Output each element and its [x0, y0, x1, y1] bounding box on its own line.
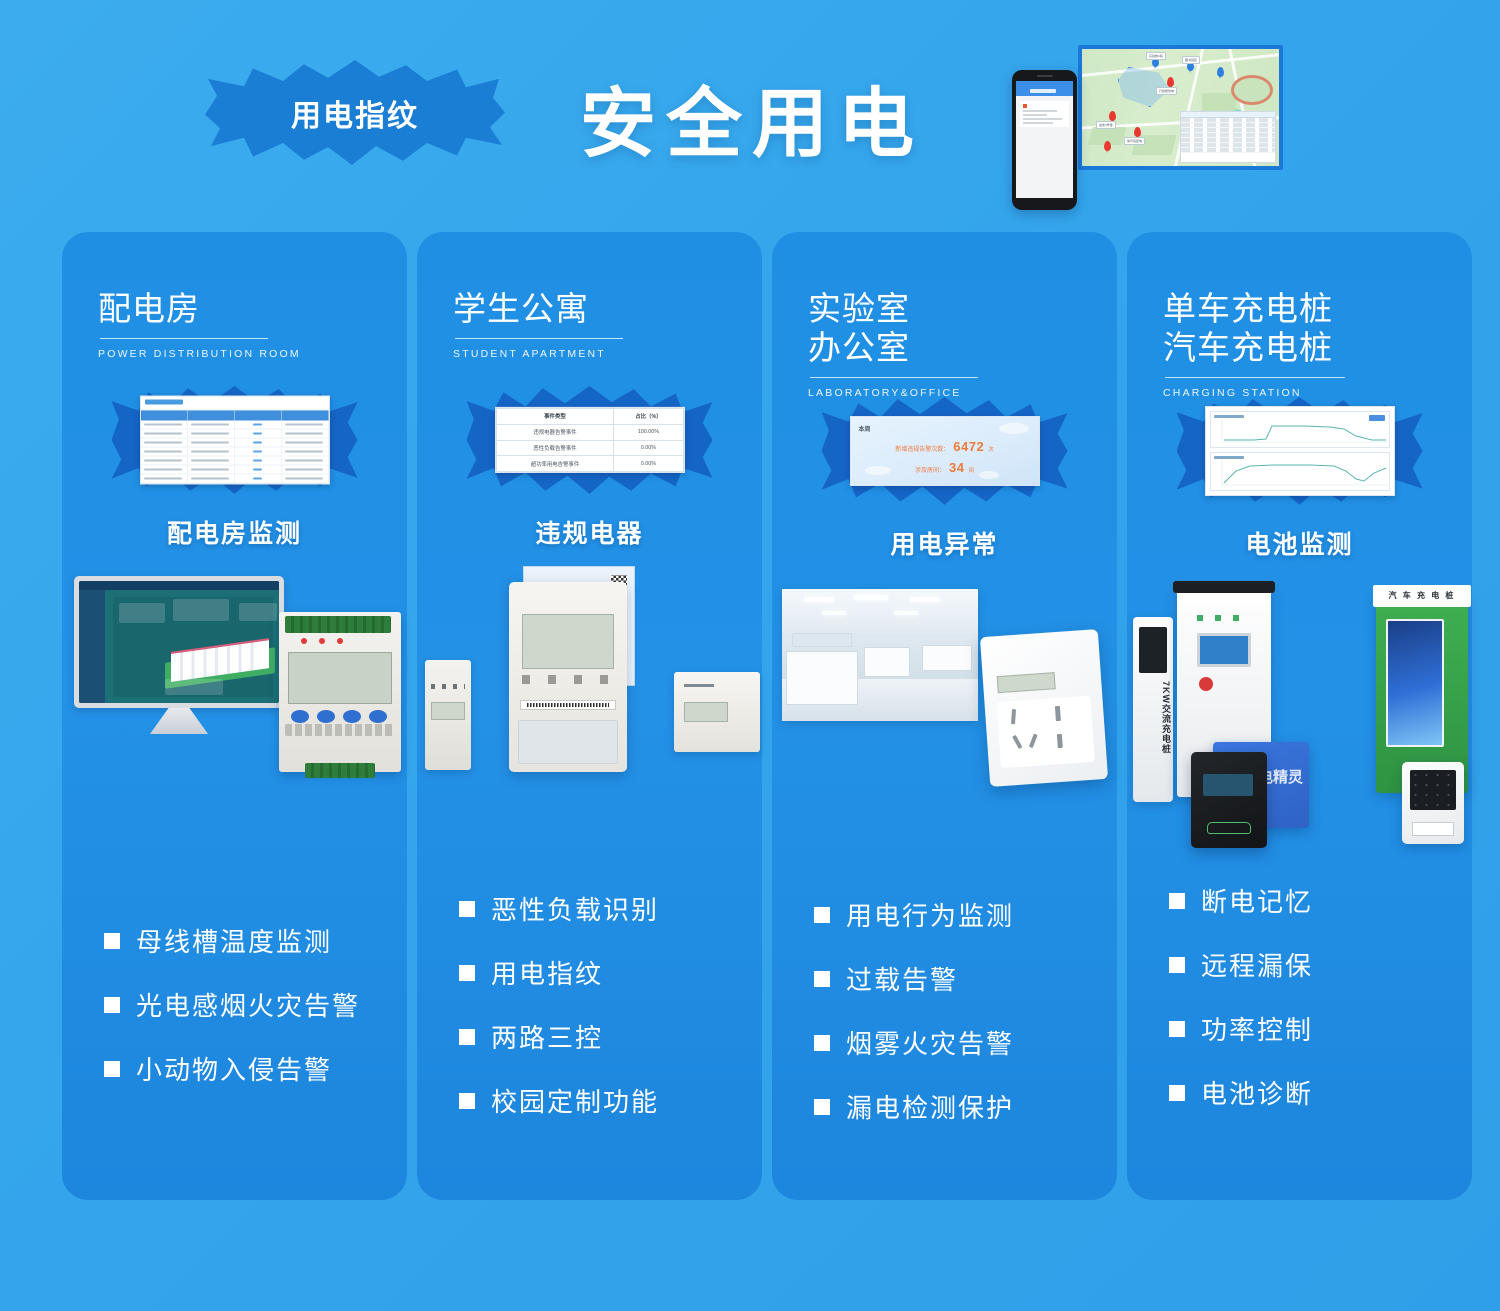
map-road: [1082, 51, 1279, 78]
list-item: 功率控制: [1169, 1010, 1472, 1047]
panel-laboratory-office[interactable]: 实验室 办公室 LABORATORY&OFFICE 本周 新增违规告警次数： 6…: [772, 232, 1117, 1200]
badge-used-power-fingerprint: 用电指纹: [205, 60, 505, 165]
list-item-label: 功率控制: [1201, 1010, 1313, 1047]
list-item: 恶性负载识别: [459, 890, 762, 927]
status-led-icon: [319, 638, 325, 644]
panel-charging-station[interactable]: 单车充电桩 汽车充电桩 CHARGING STATION: [1127, 232, 1472, 1200]
feature-list: 母线槽温度监测 光电感烟火灾告警 小动物入侵告警: [62, 922, 407, 1114]
list-item-label: 校园定制功能: [491, 1082, 659, 1119]
map-canvas: 实验楼A栋 图书馆区 行政楼供电 宿舍3号楼 体育馆配电: [1082, 49, 1279, 166]
map-pin[interactable]: [1104, 141, 1111, 151]
stat-unit: 次: [988, 445, 994, 453]
bullet-square-icon: [1169, 1085, 1185, 1101]
charging-station-equipment-photo: 7KW交流充电桩 汽 车 充 电 桩 电精灵: [1127, 575, 1472, 850]
panel-subtitle: STUDENT APARTMENT: [453, 348, 762, 360]
terminal-display: [1203, 774, 1253, 796]
phone-message-card: [1020, 101, 1069, 127]
map-pin-label: 图书馆区: [1182, 56, 1200, 64]
mockup-table-row: [141, 474, 329, 483]
kiosk-header-label: 汽 车 充 电 桩: [1373, 585, 1471, 607]
table-header-cell: 占比（%）: [614, 408, 683, 424]
capacity-chart: [1210, 452, 1390, 491]
charger-top-cap: [1173, 581, 1275, 593]
campus-map-dashboard: 实验楼A栋 图书馆区 行政楼供电 宿舍3号楼 体育馆配电: [1078, 45, 1283, 170]
panel-header: 配电房 POWER DISTRIBUTION ROOM: [62, 232, 407, 360]
smart-electric-meters-photo: [417, 564, 762, 839]
list-item: 用电指纹: [459, 954, 762, 991]
panel-power-distribution-room[interactable]: 配电房 POWER DISTRIBUTION ROOM 配电房监测: [62, 232, 407, 1200]
map-pin[interactable]: [1134, 127, 1141, 137]
dashboard-topbar: [79, 581, 279, 590]
list-item-label: 小动物入侵告警: [136, 1050, 332, 1087]
page-header: 用电指纹 安全用电 实验楼A栋: [0, 0, 1500, 225]
list-item: 漏电检测保护: [814, 1088, 1117, 1125]
phone-mockup: [1012, 70, 1077, 210]
mockup-table-row: [141, 456, 329, 465]
panel-title: 配电房: [98, 290, 407, 329]
feature-panels: 配电房 POWER DISTRIBUTION ROOM 配电房监测: [62, 232, 1472, 1200]
bullet-square-icon: [459, 1029, 475, 1045]
map-alarm-table: [1180, 111, 1276, 163]
charger-status-leds-icon: [1197, 615, 1251, 621]
mockup-table-row: [141, 420, 329, 429]
smart-socket-device: [980, 629, 1108, 787]
chart-line-svg: [1214, 418, 1390, 444]
list-item-label: 电池诊断: [1201, 1074, 1313, 1111]
meter-lcd-screen: [522, 614, 614, 669]
kiosk-advertising-screen: [1386, 619, 1444, 747]
socket-pin-hole: [1011, 709, 1016, 724]
car-icon: [1207, 822, 1251, 834]
socket-pin-hole: [1057, 734, 1063, 748]
list-item-label: 远程漏保: [1201, 946, 1313, 983]
bullet-square-icon: [1169, 957, 1185, 973]
card-slot: [1412, 822, 1454, 836]
bullet-square-icon: [459, 965, 475, 981]
hero-device-mockup: 实验楼A栋 图书馆区 行政楼供电 宿舍3号楼 体育馆配电: [1000, 45, 1290, 220]
keypad-access-terminal: [1402, 762, 1464, 844]
list-item: 校园定制功能: [459, 1082, 762, 1119]
list-item-label: 用电行为监测: [846, 896, 1014, 933]
bullet-square-icon: [814, 907, 830, 923]
panel-header: 实验室 办公室 LABORATORY&OFFICE: [772, 232, 1117, 399]
panel-title: 实验室 办公室: [808, 290, 1117, 368]
screw-terminals: [285, 724, 395, 736]
mockup-table-row: [141, 465, 329, 474]
mockup-table-header: [141, 410, 329, 420]
device-button[interactable]: [291, 710, 309, 723]
status-led-icon: [301, 638, 307, 644]
list-item-label: 母线槽温度监测: [136, 922, 332, 959]
mockup-caption: 违规电器: [417, 514, 762, 550]
terminal-block: [285, 616, 391, 633]
list-item: 过载告警: [814, 960, 1117, 997]
table-cell: 恶性负载告警事件: [496, 440, 614, 456]
list-item-label: 过载告警: [846, 960, 958, 997]
list-item: 两路三控: [459, 1018, 762, 1055]
bullet-square-icon: [814, 1035, 830, 1051]
list-item: 用电行为监测: [814, 896, 1117, 933]
device-button[interactable]: [343, 710, 361, 723]
monitor-stand: [150, 708, 208, 734]
stat-label: 涉及房间：: [915, 465, 945, 474]
stat-value: 34: [949, 460, 964, 475]
list-item: 烟雾火灾告警: [814, 1024, 1117, 1061]
list-item-label: 用电指纹: [491, 954, 603, 991]
meter-lcd-screen: [431, 702, 465, 720]
table-cell: 0.00%: [614, 456, 683, 472]
meter-barcode-label: [520, 700, 616, 710]
abnormal-usage-stat-card-mockup: 本周 新增违规告警次数： 6472 次 涉及房间： 34 间: [850, 416, 1040, 486]
chart-export-button[interactable]: [1369, 415, 1385, 421]
feature-list: 用电行为监测 过载告警 烟雾火灾告警 漏电检测保护: [772, 896, 1117, 1152]
panel-header: 单车充电桩 汽车充电桩 CHARGING STATION: [1127, 232, 1472, 399]
table-row: 超功率用电告警事件 0.00%: [496, 456, 683, 472]
table-cell: 0.00%: [614, 440, 683, 456]
rfid-charging-terminal: [1191, 752, 1267, 848]
list-item-label: 恶性负载识别: [491, 890, 659, 927]
battery-monitor-charts-mockup: [1205, 406, 1395, 496]
map-pin[interactable]: [1167, 77, 1174, 87]
dashboard-3d-scene: [113, 597, 273, 697]
map-pin[interactable]: [1109, 111, 1116, 121]
dashboard-sidebar: [79, 590, 105, 703]
title-divider: [810, 377, 978, 378]
table-header-row: 事件类型 占比（%）: [496, 408, 683, 424]
bullet-square-icon: [104, 997, 120, 1013]
list-item-label: 烟雾火灾告警: [846, 1024, 1014, 1061]
map-pin-label: 宿舍3号楼: [1096, 121, 1116, 129]
list-item: 小动物入侵告警: [104, 1050, 407, 1087]
panel-title: 单车充电桩 汽车充电桩: [1163, 290, 1472, 368]
phone-speaker-icon: [1037, 75, 1053, 77]
terminal-block: [305, 763, 375, 778]
din-rail-meter-right: [674, 672, 760, 752]
device-lcd-screen: [288, 652, 392, 704]
ac-charging-post: 7KW交流充电桩: [1133, 617, 1173, 802]
map-sports-track: [1231, 75, 1273, 105]
list-item: 电池诊断: [1169, 1074, 1472, 1111]
mockup-zone: [1127, 391, 1472, 511]
badge-label: 用电指纹: [205, 60, 505, 165]
table-cell: 违规电器告警事件: [496, 424, 614, 440]
emergency-stop-button[interactable]: [1199, 677, 1213, 691]
stat-row: 新增违规告警次数： 6472 次: [859, 439, 1031, 454]
stat-card: 本周 新增违规告警次数： 6472 次 涉及房间： 34 间: [851, 417, 1039, 485]
mockup-toolbar: [141, 399, 329, 410]
din-rail-monitoring-device: [279, 612, 401, 772]
mockup-table-row: [141, 438, 329, 447]
chart-line-svg: [1214, 459, 1390, 487]
bullet-square-icon: [814, 1099, 830, 1115]
table-row: 违规电器告警事件 100.00%: [496, 424, 683, 440]
meter-lcd-screen: [684, 702, 728, 722]
bullet-square-icon: [459, 901, 475, 917]
table-row: 恶性负载告警事件 0.00%: [496, 440, 683, 456]
socket-lcd-screen: [997, 672, 1056, 693]
bullet-square-icon: [459, 1093, 475, 1109]
map-pin-label: 行政楼供电: [1156, 87, 1177, 95]
desktop-monitor: [74, 576, 284, 708]
list-item: 远程漏保: [1169, 946, 1472, 983]
stat-value: 6472: [953, 439, 984, 454]
socket-face: [996, 696, 1094, 768]
keypad-icon[interactable]: [1410, 770, 1456, 810]
charger-screen: [1139, 627, 1167, 673]
monitor-screen: [79, 581, 279, 703]
table-header-cell: 事件类型: [496, 408, 614, 424]
laboratory-smart-socket-photo: [772, 575, 1117, 850]
charging-post-label: 7KW交流充电桩: [1133, 681, 1173, 754]
bullet-square-icon: [104, 1061, 120, 1077]
list-item: 光电感烟火灾告警: [104, 986, 407, 1023]
title-divider: [455, 338, 623, 339]
mockup-table-row: [141, 447, 329, 456]
title-divider: [100, 338, 268, 339]
mockup-caption: 配电房监测: [62, 514, 407, 550]
socket-pin-hole: [1012, 735, 1022, 749]
bullet-square-icon: [1169, 893, 1185, 909]
mockup-table-row: [141, 429, 329, 438]
mockup-zone: 事件类型 占比（%） 违规电器告警事件 100.00% 恶性负载告警事件 0.0…: [417, 380, 762, 500]
mockup-zone: [62, 380, 407, 500]
list-item-label: 光电感烟火灾告警: [136, 986, 360, 1023]
device-button[interactable]: [317, 710, 335, 723]
table-cell: 100.00%: [614, 424, 683, 440]
alert-dot-icon: [1023, 104, 1027, 108]
mockup-caption: 电池监测: [1127, 525, 1472, 561]
alarm-table-mockup: [140, 395, 330, 484]
violation-percent-table-mockup: 事件类型 占比（%） 违规电器告警事件 100.00% 恶性负载告警事件 0.0…: [495, 407, 685, 473]
feature-list: 断电记忆 远程漏保 功率控制 电池诊断: [1127, 882, 1472, 1138]
stat-unit: 间: [968, 466, 974, 474]
page-title: 安全用电: [580, 62, 924, 172]
list-item: 母线槽温度监测: [104, 922, 407, 959]
map-pin-label: 体育馆配电: [1124, 137, 1145, 145]
bullet-square-icon: [814, 971, 830, 987]
laboratory-room-photo: [782, 589, 978, 721]
panel-subtitle: POWER DISTRIBUTION ROOM: [98, 348, 407, 360]
three-phase-smart-meter: [509, 582, 627, 772]
list-item-label: 断电记忆: [1201, 882, 1313, 919]
panel-student-apartment[interactable]: 学生公寓 STUDENT APARTMENT 事件类型 占比（%） 违规电器告警…: [417, 232, 762, 1200]
panel-header: 学生公寓 STUDENT APARTMENT: [417, 232, 762, 360]
meter-terminal-cover: [518, 720, 618, 764]
status-led-icon: [337, 638, 343, 644]
voltage-chart: [1210, 411, 1390, 448]
map-table-row: [1181, 148, 1275, 153]
mockup-caption: 用电异常: [772, 525, 1117, 561]
bullet-square-icon: [1169, 1021, 1185, 1037]
list-item-label: 漏电检测保护: [846, 1088, 1014, 1125]
din-rail-meter-left: [425, 660, 471, 770]
device-button[interactable]: [369, 710, 387, 723]
stat-label: 新增违规告警次数：: [895, 444, 949, 453]
mockup-zone: 本周 新增违规告警次数： 6472 次 涉及房间： 34 间: [772, 391, 1117, 511]
percent-table: 事件类型 占比（%） 违规电器告警事件 100.00% 恶性负载告警事件 0.0…: [496, 408, 684, 472]
feature-list: 恶性负载识别 用电指纹 两路三控 校园定制功能: [417, 890, 762, 1146]
charger-display: [1197, 633, 1251, 667]
table-cell: 超功率用电告警事件: [496, 456, 614, 472]
socket-pin-hole: [1055, 706, 1061, 721]
panel-title: 学生公寓: [453, 290, 762, 329]
title-divider: [1165, 377, 1345, 378]
list-item-label: 两路三控: [491, 1018, 603, 1055]
map-pin[interactable]: [1217, 67, 1224, 77]
phone-screen: [1016, 81, 1073, 198]
list-item: 断电记忆: [1169, 882, 1472, 919]
map-pin-label: 实验楼A栋: [1146, 52, 1166, 60]
meter-buttons[interactable]: [522, 675, 614, 684]
socket-pin-hole: [1029, 733, 1038, 748]
power-distribution-monitor-photo: [62, 564, 407, 839]
phone-app-bar: [1016, 87, 1073, 96]
bullet-square-icon: [104, 933, 120, 949]
